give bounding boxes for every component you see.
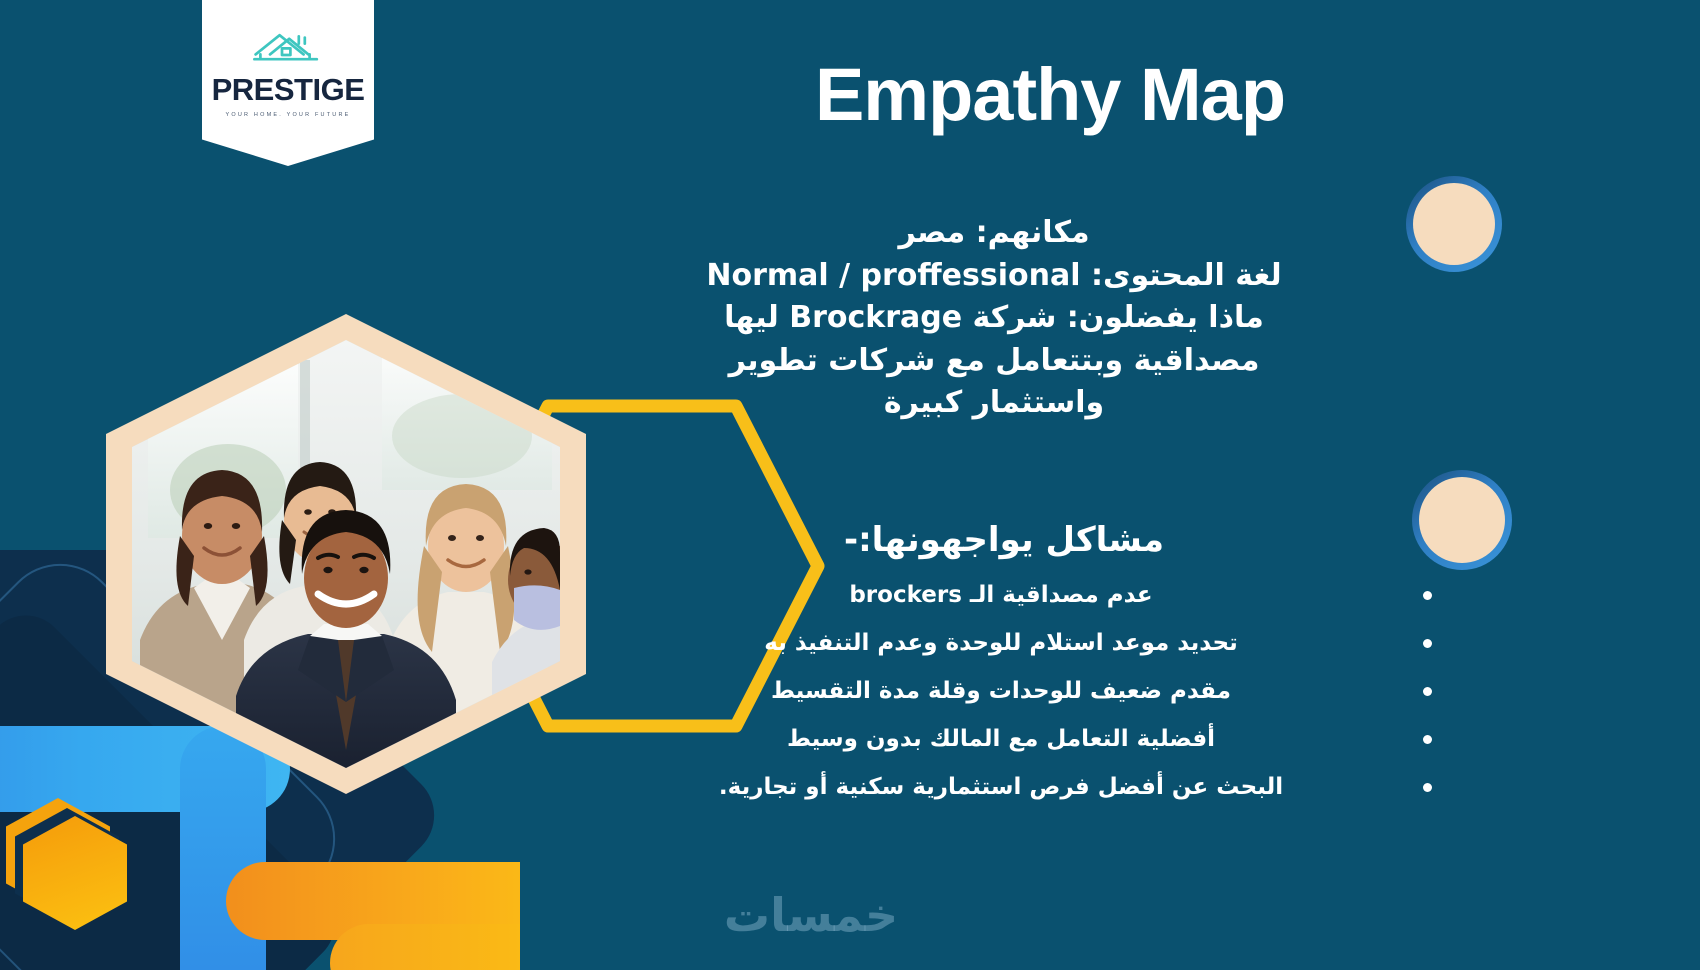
list-item-label: مقدم ضعيف للوحدات وقلة مدة التقسيط bbox=[771, 678, 1231, 704]
logo-wordmark: PRESTIGE bbox=[212, 74, 365, 105]
hexagon-inner-fill bbox=[23, 816, 127, 930]
list-item-label: عدم مصداقية الـ brockers bbox=[849, 582, 1152, 608]
brand-logo-banner: PRESTIGE YOUR HOME. YOUR FUTURE bbox=[202, 0, 374, 166]
site-watermark: خمسات bbox=[686, 888, 936, 948]
house-roof-icon bbox=[252, 30, 324, 68]
persona-details-text: مكانهم: مصر لغة المحتوى: Normal / proffe… bbox=[604, 212, 1384, 425]
hexagon-photo-group bbox=[106, 314, 646, 806]
persona-line: ماذا يفضلون: شركة Brockrage ليها bbox=[604, 297, 1384, 340]
hexagon-inner-gap bbox=[15, 808, 119, 922]
orange-hexagon-badge bbox=[6, 798, 110, 912]
persona-line: لغة المحتوى: Normal / proffessional bbox=[604, 255, 1384, 298]
list-item: البحث عن أفضل فرص استثمارية سكنية أو تجا… bbox=[602, 772, 1432, 803]
bullet-dot-icon bbox=[1423, 735, 1432, 744]
peach-circle-top bbox=[1406, 176, 1502, 272]
bullet-dot-icon bbox=[1423, 783, 1432, 792]
circle-core-top bbox=[1413, 183, 1495, 265]
problems-list: عدم مصداقية الـ brockers تحديد موعد استل… bbox=[602, 580, 1432, 820]
page-title: Empathy Map bbox=[770, 56, 1330, 134]
bullet-dot-icon bbox=[1423, 639, 1432, 648]
list-item-label: أفضلية التعامل مع المالك بدون وسيط bbox=[787, 726, 1215, 752]
hexagon-ring bbox=[6, 798, 110, 912]
list-item: عدم مصداقية الـ brockers bbox=[602, 580, 1432, 611]
orange-ribbon-lower bbox=[330, 924, 520, 970]
orange-ribbon-upper bbox=[226, 862, 520, 940]
problems-heading: مشاكل يواجهونها:- bbox=[604, 518, 1404, 562]
list-item: تحديد موعد استلام للوحدة وعدم التنفيذ به bbox=[602, 628, 1432, 659]
list-item: أفضلية التعامل مع المالك بدون وسيط bbox=[602, 724, 1432, 755]
persona-line: مصداقية وبتتعامل مع شركات تطوير bbox=[604, 340, 1384, 383]
list-item: مقدم ضعيف للوحدات وقلة مدة التقسيط bbox=[602, 676, 1432, 707]
logo-tagline: YOUR HOME. YOUR FUTURE bbox=[226, 112, 351, 118]
circle-core-bottom bbox=[1419, 477, 1505, 563]
bullet-dot-icon bbox=[1423, 687, 1432, 696]
list-item-label: البحث عن أفضل فرص استثمارية سكنية أو تجا… bbox=[719, 774, 1283, 800]
peach-circle-bottom bbox=[1412, 470, 1512, 570]
persona-line: مكانهم: مصر bbox=[604, 212, 1384, 255]
list-item-label: تحديد موعد استلام للوحدة وعدم التنفيذ به bbox=[764, 630, 1237, 656]
slide-canvas: PRESTIGE YOUR HOME. YOUR FUTURE Empathy … bbox=[0, 0, 1700, 970]
persona-line: واستثمار كبيرة bbox=[604, 382, 1384, 425]
bullet-dot-icon bbox=[1423, 591, 1432, 600]
